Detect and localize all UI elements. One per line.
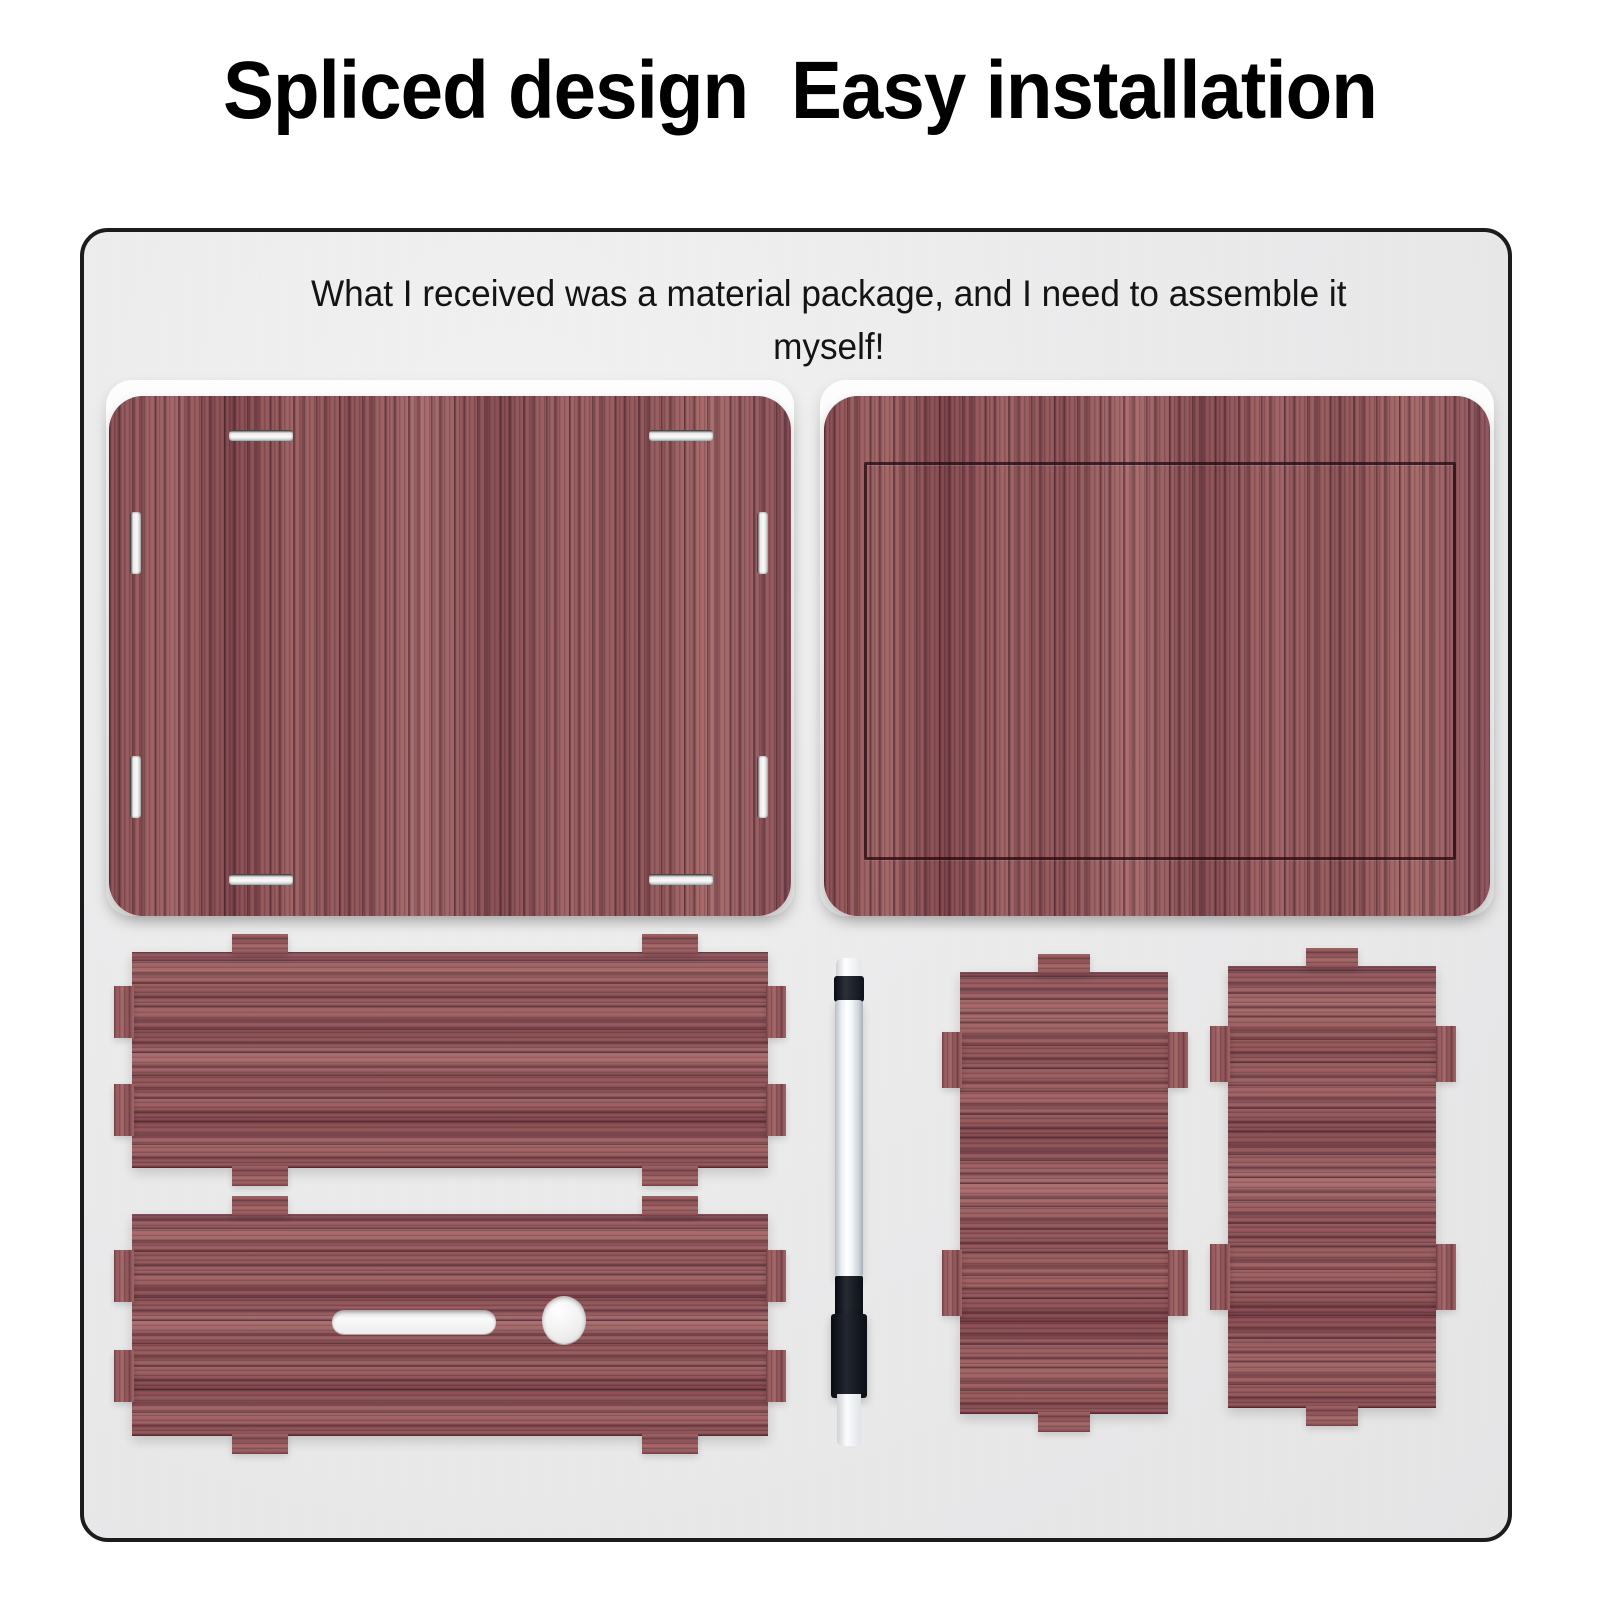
- top-left-lid-panel: [109, 396, 791, 916]
- end-panel-right-body: [1228, 966, 1436, 1408]
- tab-bottom-right: [642, 1166, 698, 1186]
- pen-slot-cutout: [332, 1310, 496, 1334]
- tab-left-upper: [1210, 1026, 1230, 1082]
- tab-right-lower: [1168, 1250, 1188, 1316]
- tab-left-upper: [114, 986, 134, 1038]
- pen-tail: [837, 1394, 861, 1446]
- mortise-slot-right-1: [757, 512, 768, 574]
- tab-left-lower: [1210, 1244, 1230, 1310]
- top-right-base-panel: [824, 396, 1490, 916]
- round-hole-cutout: [542, 1296, 586, 1344]
- tab-right-lower: [766, 1084, 786, 1136]
- tab-bottom-center: [1306, 1406, 1358, 1426]
- tab-top-center: [1038, 954, 1090, 974]
- page-title: Spliced designEasy installation: [56, 44, 1544, 138]
- tab-left-lower: [942, 1250, 962, 1316]
- tab-left-lower: [114, 1084, 134, 1136]
- tab-left-upper: [114, 1250, 134, 1302]
- tab-right-upper: [766, 986, 786, 1038]
- tab-top-center: [1306, 948, 1358, 968]
- tab-top-left: [232, 1196, 288, 1216]
- tab-top-right: [642, 1196, 698, 1216]
- product-photo-card: What I received was a material package, …: [80, 228, 1512, 1542]
- mortise-slot-left-2: [130, 756, 141, 818]
- tab-bottom-left: [232, 1166, 288, 1186]
- end-panel-left-body: [960, 972, 1168, 1414]
- tab-right-upper: [766, 1250, 786, 1302]
- tab-bottom-right: [642, 1434, 698, 1454]
- mortise-slot-top-1: [229, 430, 293, 441]
- long-panel-upper-body: [132, 952, 768, 1168]
- mortise-slot-top-2: [649, 430, 713, 441]
- lower-long-panel-upper: [114, 934, 784, 1184]
- tab-bottom-left: [232, 1434, 288, 1454]
- tab-top-right: [642, 934, 698, 954]
- tab-left-lower: [114, 1350, 134, 1402]
- tab-right-lower: [766, 1350, 786, 1402]
- pen-black-tip: [834, 976, 864, 1002]
- headline-left: Spliced design: [223, 45, 748, 136]
- mortise-slot-bottom-1: [229, 874, 293, 885]
- tab-left-upper: [942, 1032, 962, 1088]
- long-panel-lower-body: [132, 1214, 768, 1436]
- caption-line-1: What I received was a material package, …: [254, 268, 1404, 373]
- inset-score-frame: [864, 462, 1456, 860]
- tab-top-left: [232, 934, 288, 954]
- headline-right: Easy installation: [791, 45, 1377, 136]
- end-panel-left: [942, 954, 1186, 1432]
- tab-bottom-center: [1038, 1412, 1090, 1432]
- tab-right-lower: [1436, 1244, 1456, 1310]
- marker-pen: [819, 958, 879, 1452]
- pen-barrel: [835, 1000, 863, 1278]
- mortise-slot-left-1: [130, 512, 141, 574]
- tab-right-upper: [1168, 1032, 1188, 1088]
- mortise-slot-right-2: [757, 756, 768, 818]
- tab-right-upper: [1436, 1026, 1456, 1082]
- mortise-slot-bottom-2: [649, 874, 713, 885]
- pen-cap: [831, 1314, 867, 1398]
- end-panel-right: [1210, 948, 1454, 1426]
- lower-long-panel-lower: [114, 1196, 784, 1454]
